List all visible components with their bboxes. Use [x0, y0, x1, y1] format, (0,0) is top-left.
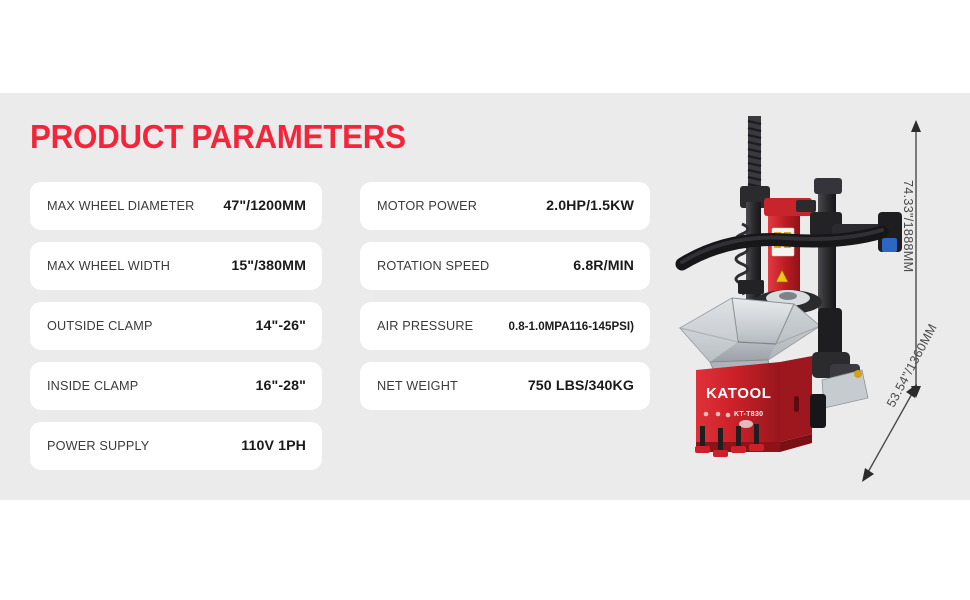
spec-value: 16"-28": [256, 378, 306, 394]
spec-label: MAX WHEEL DIAMETER: [47, 199, 194, 213]
spec-value: 47"/1200MM: [223, 198, 306, 214]
brand-text: KATOOL: [706, 385, 772, 402]
spec-label: MAX WHEEL WIDTH: [47, 259, 170, 273]
spec-value: 0.8-1.0MPA116-145PSI): [509, 320, 634, 333]
spec-value: 15"/380MM: [231, 258, 306, 274]
spec-row: POWER SUPPLY 110V 1PH: [30, 422, 322, 470]
spec-value: 750 LBS/340KG: [528, 378, 634, 394]
spec-label: INSIDE CLAMP: [47, 379, 138, 393]
spring-shaft-icon: [740, 116, 770, 208]
spec-row: AIR PRESSURE 0.8-1.0MPA116-145PSI): [360, 302, 650, 350]
spec-value: 14"-26": [256, 318, 306, 334]
spec-row: MOTOR POWER 2.0HP/1.5KW: [360, 182, 650, 230]
height-dimension-label: 74.33"/1888MM: [901, 180, 915, 272]
model-text: KT-T830: [734, 411, 763, 418]
spec-row: MAX WHEEL DIAMETER 47"/1200MM: [30, 182, 322, 230]
spec-label: NET WEIGHT: [377, 379, 458, 393]
spec-label: AIR PRESSURE: [377, 319, 473, 333]
spec-row: ROTATION SPEED 6.8R/MIN: [360, 242, 650, 290]
spec-value: 6.8R/MIN: [573, 258, 634, 274]
spec-row: INSIDE CLAMP 16"-28": [30, 362, 322, 410]
spec-row: NET WEIGHT 750 LBS/340KG: [360, 362, 650, 410]
spec-row: MAX WHEEL WIDTH 15"/380MM: [30, 242, 322, 290]
spec-label: OUTSIDE CLAMP: [47, 319, 153, 333]
spec-column-right: MOTOR POWER 2.0HP/1.5KW ROTATION SPEED 6…: [360, 182, 650, 410]
page-title: PRODUCT PARAMETERS: [30, 118, 406, 156]
spec-column-left: MAX WHEEL DIAMETER 47"/1200MM MAX WHEEL …: [30, 182, 322, 470]
spec-label: MOTOR POWER: [377, 199, 477, 213]
spec-value: 2.0HP/1.5KW: [546, 198, 634, 214]
spec-label: POWER SUPPLY: [47, 439, 149, 453]
spec-value: 110V 1PH: [241, 438, 306, 454]
spec-label: ROTATION SPEED: [377, 259, 489, 273]
spec-row: OUTSIDE CLAMP 14"-26": [30, 302, 322, 350]
